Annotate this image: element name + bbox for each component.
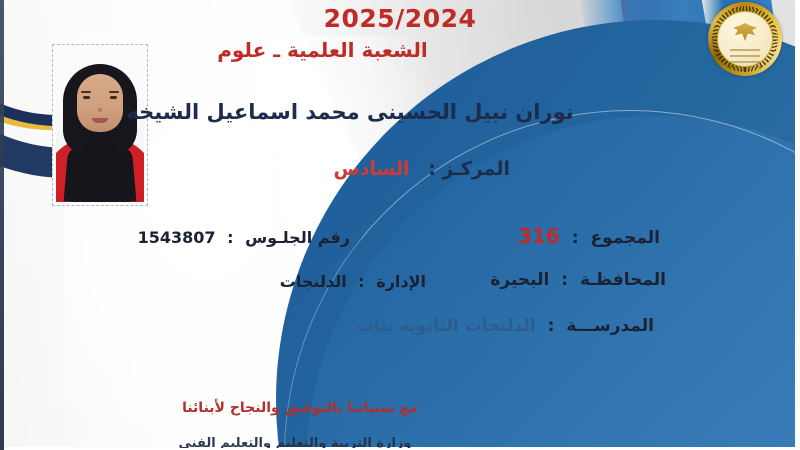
student-result-card: 2025/2024 الشعبة العلمية ـ علوم نوران نب… <box>0 0 800 450</box>
seat-number-separator: : <box>227 228 233 247</box>
rank-label: المركـز <box>442 158 510 180</box>
school-label: المدرســـة <box>566 316 654 336</box>
academic-year: 2025/2024 <box>0 4 800 33</box>
study-branch: الشعبة العلمية ـ علوم <box>0 38 645 62</box>
seat-number-row: رقم الجلـوس : 1543807 <box>138 228 350 247</box>
administration-separator: : <box>358 272 364 291</box>
administration-value: الدلنجات <box>280 272 347 291</box>
total-score-row: المجموع : 316 <box>518 224 660 248</box>
administration-label: الإدارة <box>376 272 426 291</box>
governorate-value: البحيرة <box>490 270 549 290</box>
governorate-label: المحافظـة <box>580 270 666 290</box>
card-text-area: 2025/2024 الشعبة العلمية ـ علوم نوران نب… <box>0 0 800 450</box>
rank-row: المركـز : السادس <box>333 158 510 180</box>
administration-row: الإدارة : الدلنجات <box>280 272 426 291</box>
governorate-row: المحافظـة : البحيرة <box>490 270 666 290</box>
rank-separator: : <box>428 158 436 180</box>
seat-number-value: 1543807 <box>138 228 216 247</box>
ministry-footer-text: وزارة التربية والتعليم والتعليم الفني <box>0 436 800 448</box>
governorate-separator: : <box>561 270 568 290</box>
total-score-value: 316 <box>518 224 560 248</box>
rank-value: السادس <box>333 158 409 180</box>
seat-number-label: رقم الجلـوس <box>245 228 350 247</box>
school-value: الدلنجات الثانويه بنات <box>357 316 536 336</box>
details-grid: المجموع : 316 رقم الجلـوس : 1543807 المح… <box>40 222 680 362</box>
student-name: نوران نبيل الحسينى محمد اسماعيل الشيخه <box>0 100 700 124</box>
total-score-label: المجموع <box>590 228 660 248</box>
school-row: المدرســـة : الدلنجات الثانويه بنات <box>357 316 654 336</box>
congratulations-message: مع تمنياتنا بالتوفيق والنجاح لأبنائنا <box>0 400 800 416</box>
school-separator: : <box>548 316 555 336</box>
total-score-separator: : <box>572 228 579 248</box>
